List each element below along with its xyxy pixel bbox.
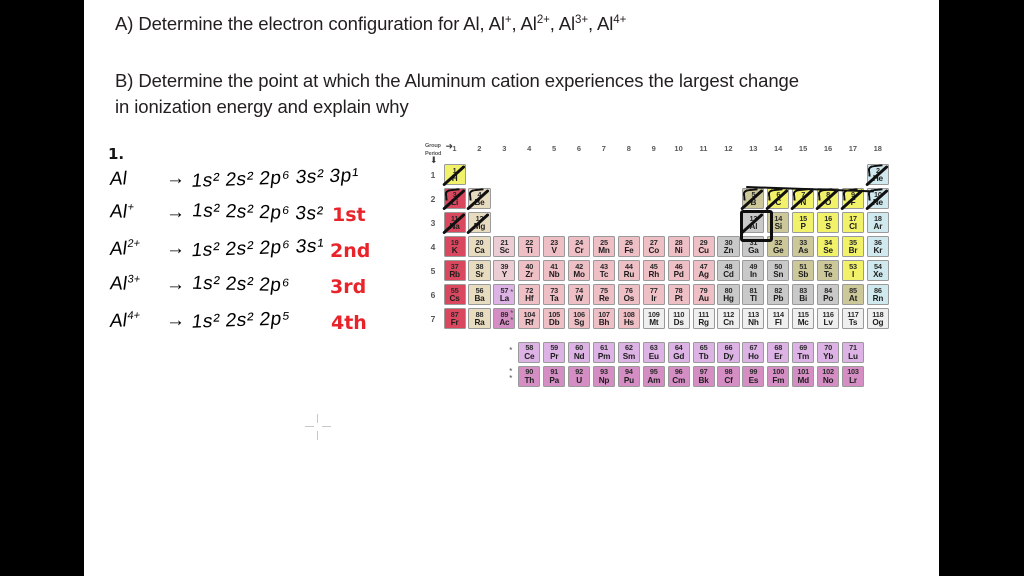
element-cell-cu[interactable]: 29Cu bbox=[693, 236, 715, 257]
element-cell-w[interactable]: 74W bbox=[568, 284, 590, 305]
element-cell-fr[interactable]: 87Fr bbox=[444, 308, 466, 329]
handwritten-arrow-icon: → bbox=[166, 168, 192, 190]
element-cell-ho[interactable]: 67Ho bbox=[742, 342, 764, 363]
element-cell-er[interactable]: 68Er bbox=[767, 342, 789, 363]
question-a-sup-2: 2+ bbox=[537, 14, 550, 26]
element-cell-tm[interactable]: 69Tm bbox=[792, 342, 814, 363]
element-cell-sb[interactable]: 51Sb bbox=[792, 260, 814, 281]
handwritten-arrow-icon: → bbox=[166, 274, 192, 296]
element-cell-na[interactable]: 11Na bbox=[444, 212, 466, 233]
handwritten-species: Al3+ bbox=[109, 273, 168, 296]
element-cell-og[interactable]: 118Og bbox=[867, 308, 889, 329]
element-symbol: Cn bbox=[718, 319, 738, 328]
element-cell-sm[interactable]: 62Sm bbox=[618, 342, 640, 363]
whiteboard-page: A) Determine the electron configuration … bbox=[84, 0, 939, 576]
handwritten-configuration: 1s² 2s² 2p⁶ 3s² 3p¹ bbox=[190, 165, 360, 193]
handwritten-species: Al+ bbox=[109, 201, 168, 224]
element-symbol: S bbox=[818, 223, 838, 232]
element-cell-ca[interactable]: 20Ca bbox=[468, 236, 490, 257]
element-symbol: Gd bbox=[669, 353, 689, 362]
group-number: 15 bbox=[796, 144, 810, 153]
period-number: 4 bbox=[428, 242, 438, 252]
element-cell-no[interactable]: 102No bbox=[817, 366, 839, 387]
element-symbol: Ho bbox=[743, 353, 763, 362]
element-symbol: Rh bbox=[644, 271, 664, 280]
element-cell-cn[interactable]: 112Cn bbox=[717, 308, 739, 329]
group-number: 10 bbox=[672, 144, 686, 153]
element-cell-tb[interactable]: 65Tb bbox=[693, 342, 715, 363]
element-cell-f[interactable]: 9F bbox=[842, 188, 864, 209]
element-symbol: Cr bbox=[569, 247, 589, 256]
period-number: 2 bbox=[428, 194, 438, 204]
element-symbol: Cs bbox=[445, 295, 465, 304]
question-b-line-2: in ionization energy and explain why bbox=[115, 94, 925, 120]
element-cell-sg[interactable]: 106Sg bbox=[568, 308, 590, 329]
element-cell-mn[interactable]: 25Mn bbox=[593, 236, 615, 257]
element-symbol: V bbox=[544, 247, 564, 256]
handwritten-species: Al2+ bbox=[109, 237, 168, 261]
element-cell-k[interactable]: 19K bbox=[444, 236, 466, 257]
cursor-center-gap bbox=[314, 423, 322, 431]
element-cell-cm[interactable]: 96Cm bbox=[668, 366, 690, 387]
element-symbol: Ag bbox=[694, 271, 714, 280]
element-symbol: Zr bbox=[519, 271, 539, 280]
element-symbol: Co bbox=[644, 247, 664, 256]
element-cell-nb[interactable]: 41Nb bbox=[543, 260, 565, 281]
handwritten-charge bbox=[127, 168, 128, 180]
handwritten-configuration: 1s² 2s² 2p⁶ 3s² bbox=[191, 200, 325, 225]
element-symbol: Rn bbox=[868, 295, 888, 304]
element-symbol: W bbox=[569, 295, 589, 304]
element-symbol: Te bbox=[818, 271, 838, 280]
question-a-mid-2: , Al bbox=[550, 13, 575, 34]
element-cell-sr[interactable]: 38Sr bbox=[468, 260, 490, 281]
element-symbol: Ar bbox=[868, 223, 888, 232]
element-symbol: Bk bbox=[694, 377, 714, 386]
element-symbol: Ce bbox=[519, 353, 539, 362]
element-symbol: Tb bbox=[694, 353, 714, 362]
handwritten-row: Al2+→1s² 2s² 2p⁶ 3s¹ bbox=[110, 238, 323, 260]
element-cell-eu[interactable]: 63Eu bbox=[643, 342, 665, 363]
element-cell-fm[interactable]: 100Fm bbox=[767, 366, 789, 387]
element-symbol: Pt bbox=[669, 295, 689, 304]
element-symbol: Ni bbox=[669, 247, 689, 256]
element-cell-at[interactable]: 85At bbox=[842, 284, 864, 305]
element-cell-hf[interactable]: 72Hf bbox=[518, 284, 540, 305]
element-symbol: Cm bbox=[669, 377, 689, 386]
element-symbol: N bbox=[793, 199, 813, 208]
element-symbol: Mt bbox=[644, 319, 664, 328]
element-cell-ga[interactable]: 31Ga bbox=[742, 236, 764, 257]
group-number: 2 bbox=[472, 144, 486, 153]
element-cell-pb[interactable]: 82Pb bbox=[767, 284, 789, 305]
element-symbol: Es bbox=[743, 377, 763, 386]
element-cell-ir[interactable]: 77Ir bbox=[643, 284, 665, 305]
element-symbol: Bh bbox=[594, 319, 614, 328]
element-symbol: Pd bbox=[669, 271, 689, 280]
element-cell-cs[interactable]: 55Cs bbox=[444, 284, 466, 305]
element-cell-bk[interactable]: 97Bk bbox=[693, 366, 715, 387]
element-cell-rh[interactable]: 45Rh bbox=[643, 260, 665, 281]
element-cell-am[interactable]: 95Am bbox=[643, 366, 665, 387]
element-symbol: Cf bbox=[718, 377, 738, 386]
element-cell-he[interactable]: 2He bbox=[867, 164, 889, 185]
element-cell-h[interactable]: 1H bbox=[444, 164, 466, 185]
element-symbol: F bbox=[843, 199, 863, 208]
element-symbol: U bbox=[569, 377, 589, 386]
element-cell-fl[interactable]: 114Fl bbox=[767, 308, 789, 329]
element-symbol: P bbox=[793, 223, 813, 232]
handwritten-row: Al→1s² 2s² 2p⁶ 3s² 3p¹ bbox=[110, 168, 358, 190]
element-cell-rf[interactable]: 104Rf bbox=[518, 308, 540, 329]
element-symbol: He bbox=[868, 175, 888, 184]
handwritten-row: Al4+→1s² 2s² 2p⁵ bbox=[110, 310, 290, 332]
element-cell-cr[interactable]: 24Cr bbox=[568, 236, 590, 257]
element-symbol: I bbox=[843, 271, 863, 280]
element-cell-lr[interactable]: 103Lr bbox=[842, 366, 864, 387]
element-symbol: As bbox=[793, 247, 813, 256]
element-cell-li[interactable]: 3Li bbox=[444, 188, 466, 209]
element-cell-pd[interactable]: 46Pd bbox=[668, 260, 690, 281]
handwritten-charge: 4+ bbox=[127, 310, 141, 322]
element-cell-np[interactable]: 93Np bbox=[593, 366, 615, 387]
element-symbol: Md bbox=[793, 377, 813, 386]
element-cell-yb[interactable]: 70Yb bbox=[817, 342, 839, 363]
element-cell-ts[interactable]: 117Ts bbox=[842, 308, 864, 329]
actinide-marker-main-b: * bbox=[510, 317, 513, 325]
element-symbol: Ir bbox=[644, 295, 664, 304]
group-number: 13 bbox=[746, 144, 760, 153]
element-symbol: Nh bbox=[743, 319, 763, 328]
element-cell-md[interactable]: 101Md bbox=[792, 366, 814, 387]
element-cell-c[interactable]: 6C bbox=[767, 188, 789, 209]
element-symbol: Cl bbox=[843, 223, 863, 232]
element-symbol: Al bbox=[743, 223, 763, 232]
element-cell-mc[interactable]: 115Mc bbox=[792, 308, 814, 329]
element-symbol: Hf bbox=[519, 295, 539, 304]
element-symbol: Cu bbox=[694, 247, 714, 256]
element-cell-lu[interactable]: 71Lu bbox=[842, 342, 864, 363]
lanthanide-marker-main: * bbox=[510, 289, 513, 297]
element-cell-pr[interactable]: 59Pr bbox=[543, 342, 565, 363]
element-symbol: Nb bbox=[544, 271, 564, 280]
element-cell-pu[interactable]: 94Pu bbox=[618, 366, 640, 387]
element-cell-hs[interactable]: 108Hs bbox=[618, 308, 640, 329]
element-cell-sc[interactable]: 21Sc bbox=[493, 236, 515, 257]
element-cell-es[interactable]: 99Es bbox=[742, 366, 764, 387]
actinide-marker-row-b: * bbox=[509, 375, 512, 383]
group-number: 14 bbox=[771, 144, 785, 153]
element-cell-s[interactable]: 16S bbox=[817, 212, 839, 233]
element-cell-si[interactable]: 14Si bbox=[767, 212, 789, 233]
element-symbol: Mo bbox=[569, 271, 589, 280]
element-symbol: C bbox=[768, 199, 788, 208]
element-symbol: Ge bbox=[768, 247, 788, 256]
period-arrow-icon: ⬇ bbox=[430, 156, 438, 165]
handwritten-species: Al4+ bbox=[109, 309, 168, 333]
element-symbol: Db bbox=[544, 319, 564, 328]
handwritten-arrow-icon: → bbox=[166, 238, 192, 260]
group-number: 5 bbox=[547, 144, 561, 153]
element-cell-xe[interactable]: 54Xe bbox=[867, 260, 889, 281]
element-symbol: Pb bbox=[768, 295, 788, 304]
element-cell-cf[interactable]: 98Cf bbox=[717, 366, 739, 387]
element-cell-cd[interactable]: 48Cd bbox=[717, 260, 739, 281]
element-symbol: Nd bbox=[569, 353, 589, 362]
group-number: 9 bbox=[647, 144, 661, 153]
element-symbol: Eu bbox=[644, 353, 664, 362]
element-symbol: Lr bbox=[843, 377, 863, 386]
element-symbol: Hs bbox=[619, 319, 639, 328]
group-number: 11 bbox=[697, 144, 711, 153]
question-a-sup-3: 3+ bbox=[575, 14, 588, 26]
element-symbol: Lv bbox=[818, 319, 838, 328]
element-cell-nd[interactable]: 60Nd bbox=[568, 342, 590, 363]
element-symbol: Pm bbox=[594, 353, 614, 362]
element-symbol: Ra bbox=[469, 319, 489, 328]
ionization-ordinal-label: 3rd bbox=[330, 276, 366, 298]
period-number: 3 bbox=[428, 218, 438, 228]
element-symbol: Mg bbox=[469, 223, 489, 232]
element-symbol: Bi bbox=[793, 295, 813, 304]
element-cell-zr[interactable]: 40Zr bbox=[518, 260, 540, 281]
element-cell-pm[interactable]: 61Pm bbox=[593, 342, 615, 363]
element-cell-re[interactable]: 75Re bbox=[593, 284, 615, 305]
handwritten-arrow-icon: → bbox=[166, 310, 192, 332]
element-symbol: Sb bbox=[793, 271, 813, 280]
element-cell-gd[interactable]: 64Gd bbox=[668, 342, 690, 363]
period-number: 5 bbox=[428, 266, 438, 276]
element-symbol: O bbox=[818, 199, 838, 208]
element-cell-ru[interactable]: 44Ru bbox=[618, 260, 640, 281]
element-symbol: Fl bbox=[768, 319, 788, 328]
element-symbol: Fe bbox=[619, 247, 639, 256]
element-cell-ge[interactable]: 32Ge bbox=[767, 236, 789, 257]
element-symbol: Re bbox=[594, 295, 614, 304]
handwritten-charge: + bbox=[127, 201, 135, 213]
element-symbol: Yb bbox=[818, 353, 838, 362]
handwritten-arrow-icon: → bbox=[166, 202, 192, 224]
element-symbol: At bbox=[843, 295, 863, 304]
element-cell-au[interactable]: 79Au bbox=[693, 284, 715, 305]
question-a-mid-1: , Al bbox=[512, 13, 537, 34]
group-number: 4 bbox=[522, 144, 536, 153]
element-symbol: Sr bbox=[469, 271, 489, 280]
handwritten-item-number: 1. bbox=[108, 145, 124, 163]
element-cell-rg[interactable]: 111Rg bbox=[693, 308, 715, 329]
element-symbol: Dy bbox=[718, 353, 738, 362]
element-cell-th[interactable]: 90Th bbox=[518, 366, 540, 387]
element-cell-bi[interactable]: 83Bi bbox=[792, 284, 814, 305]
handwritten-row: Al3+→1s² 2s² 2p⁶ bbox=[110, 274, 290, 296]
element-cell-v[interactable]: 23V bbox=[543, 236, 565, 257]
group-number: 17 bbox=[846, 144, 860, 153]
element-cell-in[interactable]: 49In bbox=[742, 260, 764, 281]
element-symbol: Og bbox=[868, 319, 888, 328]
element-cell-rn[interactable]: 86Rn bbox=[867, 284, 889, 305]
question-b: B) Determine the point at which the Alum… bbox=[115, 68, 925, 120]
element-cell-sn[interactable]: 50Sn bbox=[767, 260, 789, 281]
element-cell-lv[interactable]: 116Lv bbox=[817, 308, 839, 329]
element-cell-tl[interactable]: 81Tl bbox=[742, 284, 764, 305]
element-cell-co[interactable]: 27Co bbox=[643, 236, 665, 257]
ionization-ordinal-label: 2nd bbox=[330, 240, 370, 262]
periodic-table: Group Period ➜ ⬇ 12345678910111213141516… bbox=[425, 143, 925, 388]
element-symbol: Rf bbox=[519, 319, 539, 328]
element-cell-p[interactable]: 15P bbox=[792, 212, 814, 233]
element-cell-be[interactable]: 4Be bbox=[468, 188, 490, 209]
element-symbol: Ts bbox=[843, 319, 863, 328]
element-cell-br[interactable]: 35Br bbox=[842, 236, 864, 257]
element-symbol: Sg bbox=[569, 319, 589, 328]
element-symbol: Pr bbox=[544, 353, 564, 362]
element-symbol: Ca bbox=[469, 247, 489, 256]
group-number: 8 bbox=[622, 144, 636, 153]
handwritten-species: Al bbox=[109, 167, 168, 191]
question-b-line-1: B) Determine the point at which the Alum… bbox=[115, 68, 925, 94]
element-symbol: Hg bbox=[718, 295, 738, 304]
element-symbol: Li bbox=[445, 199, 465, 208]
ionization-ordinal-label: 1st bbox=[332, 204, 366, 226]
element-symbol: Pa bbox=[544, 377, 564, 386]
element-symbol: Au bbox=[694, 295, 714, 304]
element-symbol: Rg bbox=[694, 319, 714, 328]
group-axis-label: Group bbox=[425, 143, 441, 149]
element-cell-ne[interactable]: 10Ne bbox=[867, 188, 889, 209]
element-symbol: Th bbox=[519, 377, 539, 386]
element-cell-hg[interactable]: 80Hg bbox=[717, 284, 739, 305]
element-cell-ba[interactable]: 56Ba bbox=[468, 284, 490, 305]
period-number: 7 bbox=[428, 314, 438, 324]
element-symbol: Ru bbox=[619, 271, 639, 280]
element-cell-ds[interactable]: 110Ds bbox=[668, 308, 690, 329]
element-symbol: Ba bbox=[469, 295, 489, 304]
element-symbol: Sc bbox=[494, 247, 514, 256]
element-symbol: Sm bbox=[619, 353, 639, 362]
handwritten-configuration: 1s² 2s² 2p⁶ bbox=[191, 273, 291, 298]
element-symbol: Xe bbox=[868, 271, 888, 280]
element-symbol: Cd bbox=[718, 271, 738, 280]
element-symbol: Sn bbox=[768, 271, 788, 280]
element-symbol: Ne bbox=[868, 199, 888, 208]
element-symbol: Os bbox=[619, 295, 639, 304]
element-cell-ni[interactable]: 28Ni bbox=[668, 236, 690, 257]
element-cell-zn[interactable]: 30Zn bbox=[717, 236, 739, 257]
element-cell-ra[interactable]: 88Ra bbox=[468, 308, 490, 329]
element-cell-as[interactable]: 33As bbox=[792, 236, 814, 257]
element-symbol: Kr bbox=[868, 247, 888, 256]
element-cell-mt[interactable]: 109Mt bbox=[643, 308, 665, 329]
element-symbol: B bbox=[743, 199, 763, 208]
ionization-ordinal-label: 4th bbox=[331, 312, 367, 334]
element-symbol: Po bbox=[818, 295, 838, 304]
element-cell-pa[interactable]: 91Pa bbox=[543, 366, 565, 387]
question-a: A) Determine the electron configuration … bbox=[115, 11, 626, 37]
element-symbol: Fm bbox=[768, 377, 788, 386]
element-symbol: Np bbox=[594, 377, 614, 386]
element-cell-tc[interactable]: 43Tc bbox=[593, 260, 615, 281]
question-a-prefix: A) Determine the electron configuration … bbox=[115, 13, 505, 34]
element-cell-cl[interactable]: 17Cl bbox=[842, 212, 864, 233]
period-number: 6 bbox=[428, 290, 438, 300]
question-a-mid-3: , Al bbox=[588, 13, 613, 34]
element-symbol: Br bbox=[843, 247, 863, 256]
element-symbol: Mn bbox=[594, 247, 614, 256]
element-symbol: Lu bbox=[843, 353, 863, 362]
element-cell-nh[interactable]: 113Nh bbox=[742, 308, 764, 329]
element-cell-mo[interactable]: 42Mo bbox=[568, 260, 590, 281]
element-symbol: Zn bbox=[718, 247, 738, 256]
handwritten-configuration: 1s² 2s² 2p⁵ bbox=[190, 308, 291, 333]
element-symbol: In bbox=[743, 271, 763, 280]
element-cell-rb[interactable]: 37Rb bbox=[444, 260, 466, 281]
group-number: 12 bbox=[721, 144, 735, 153]
element-cell-bh[interactable]: 107Bh bbox=[593, 308, 615, 329]
element-cell-n[interactable]: 7N bbox=[792, 188, 814, 209]
element-symbol: Rb bbox=[445, 271, 465, 280]
lanthanide-marker-row: * bbox=[509, 347, 512, 355]
element-cell-o[interactable]: 8O bbox=[817, 188, 839, 209]
question-a-sup-4: 4+ bbox=[613, 14, 626, 26]
element-cell-ar[interactable]: 18Ar bbox=[867, 212, 889, 233]
element-cell-ti[interactable]: 22Ti bbox=[518, 236, 540, 257]
element-symbol: Tl bbox=[743, 295, 763, 304]
group-number: 16 bbox=[821, 144, 835, 153]
element-symbol: Mc bbox=[793, 319, 813, 328]
group-number: 7 bbox=[597, 144, 611, 153]
element-symbol: Pu bbox=[619, 377, 639, 386]
element-cell-b[interactable]: 5B bbox=[742, 188, 764, 209]
element-symbol: Am bbox=[644, 377, 664, 386]
period-number: 1 bbox=[428, 170, 438, 180]
element-cell-al[interactable]: 13Al bbox=[742, 212, 764, 233]
handwritten-charge: 3+ bbox=[127, 273, 141, 285]
question-a-sup-1: + bbox=[505, 14, 512, 26]
element-cell-te[interactable]: 52Te bbox=[817, 260, 839, 281]
element-symbol: K bbox=[445, 247, 465, 256]
element-cell-se[interactable]: 34Se bbox=[817, 236, 839, 257]
element-cell-os[interactable]: 76Os bbox=[618, 284, 640, 305]
element-cell-y[interactable]: 39Y bbox=[493, 260, 515, 281]
element-cell-fe[interactable]: 26Fe bbox=[618, 236, 640, 257]
group-number: 18 bbox=[871, 144, 885, 153]
element-cell-db[interactable]: 105Db bbox=[543, 308, 565, 329]
element-symbol: Be bbox=[469, 199, 489, 208]
element-symbol: Er bbox=[768, 353, 788, 362]
element-symbol: H bbox=[445, 175, 465, 184]
element-cell-kr[interactable]: 36Kr bbox=[867, 236, 889, 257]
element-symbol: Si bbox=[768, 223, 788, 232]
element-symbol: Se bbox=[818, 247, 838, 256]
element-symbol: Y bbox=[494, 271, 514, 280]
element-cell-ag[interactable]: 47Ag bbox=[693, 260, 715, 281]
element-symbol: Na bbox=[445, 223, 465, 232]
element-cell-pt[interactable]: 78Pt bbox=[668, 284, 690, 305]
element-symbol: Ta bbox=[544, 295, 564, 304]
element-cell-ce[interactable]: 58Ce bbox=[518, 342, 540, 363]
element-cell-u[interactable]: 92U bbox=[568, 366, 590, 387]
element-cell-ta[interactable]: 73Ta bbox=[543, 284, 565, 305]
element-symbol: Ga bbox=[743, 247, 763, 256]
element-cell-dy[interactable]: 66Dy bbox=[717, 342, 739, 363]
element-cell-po[interactable]: 84Po bbox=[817, 284, 839, 305]
group-number: 3 bbox=[497, 144, 511, 153]
element-cell-i[interactable]: 53I bbox=[842, 260, 864, 281]
element-cell-mg[interactable]: 12Mg bbox=[468, 212, 490, 233]
element-symbol: Fr bbox=[445, 319, 465, 328]
group-number: 6 bbox=[572, 144, 586, 153]
element-symbol: No bbox=[818, 377, 838, 386]
